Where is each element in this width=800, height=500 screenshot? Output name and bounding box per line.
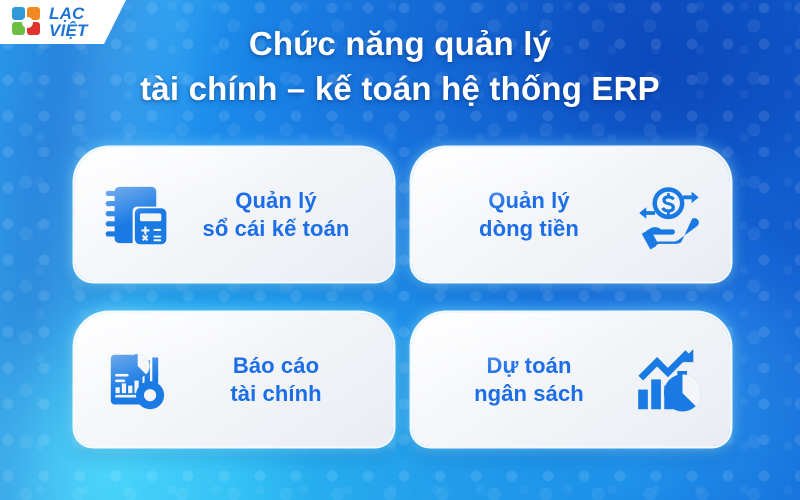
brand-logo[interactable]: LẠC VIỆT bbox=[0, 0, 126, 44]
feature-card-label: Quản lý dòng tiền bbox=[428, 187, 630, 243]
feature-card-label: Báo cáo tài chính bbox=[175, 352, 377, 408]
feature-label-line-2: ngân sách bbox=[428, 380, 630, 408]
report-chart-gear-icon bbox=[97, 341, 175, 419]
feature-label-line-1: Quản lý bbox=[428, 187, 630, 215]
feature-card-label: Dự toán ngân sách bbox=[428, 352, 630, 408]
feature-card-ledger[interactable]: Quản lý sổ cái kế toán bbox=[75, 148, 393, 281]
feature-label-line-1: Báo cáo bbox=[175, 352, 377, 380]
page-title-line-2: tài chính – kế toán hệ thống ERP bbox=[0, 69, 800, 109]
feature-card-financial-report[interactable]: Báo cáo tài chính bbox=[75, 313, 393, 446]
feature-label-line-1: Dự toán bbox=[428, 352, 630, 380]
four-squares-logo-icon bbox=[12, 7, 42, 37]
feature-label-line-2: tài chính bbox=[175, 380, 377, 408]
feature-card-grid: Quản lý sổ cái kế toán Quản lý dòng tiền bbox=[75, 148, 730, 460]
notebook-calculator-icon bbox=[97, 176, 175, 254]
page-title-line-1: Chức năng quản lý bbox=[0, 24, 800, 64]
feature-card-cashflow[interactable]: Quản lý dòng tiền bbox=[412, 148, 730, 281]
feature-card-budget[interactable]: Dự toán ngân sách bbox=[412, 313, 730, 446]
page-title: Chức năng quản lý tài chính – kế toán hệ… bbox=[0, 24, 800, 109]
feature-label-line-2: sổ cái kế toán bbox=[175, 215, 377, 243]
bar-trend-pie-icon bbox=[630, 341, 708, 419]
feature-label-line-1: Quản lý bbox=[175, 187, 377, 215]
infographic-canvas: LẠC VIỆT Chức năng quản lý tài chính – k… bbox=[0, 0, 800, 500]
feature-card-label: Quản lý sổ cái kế toán bbox=[175, 187, 377, 243]
feature-label-line-2: dòng tiền bbox=[428, 215, 630, 243]
hand-money-flow-icon bbox=[630, 176, 708, 254]
logo-center-dot bbox=[22, 17, 33, 28]
